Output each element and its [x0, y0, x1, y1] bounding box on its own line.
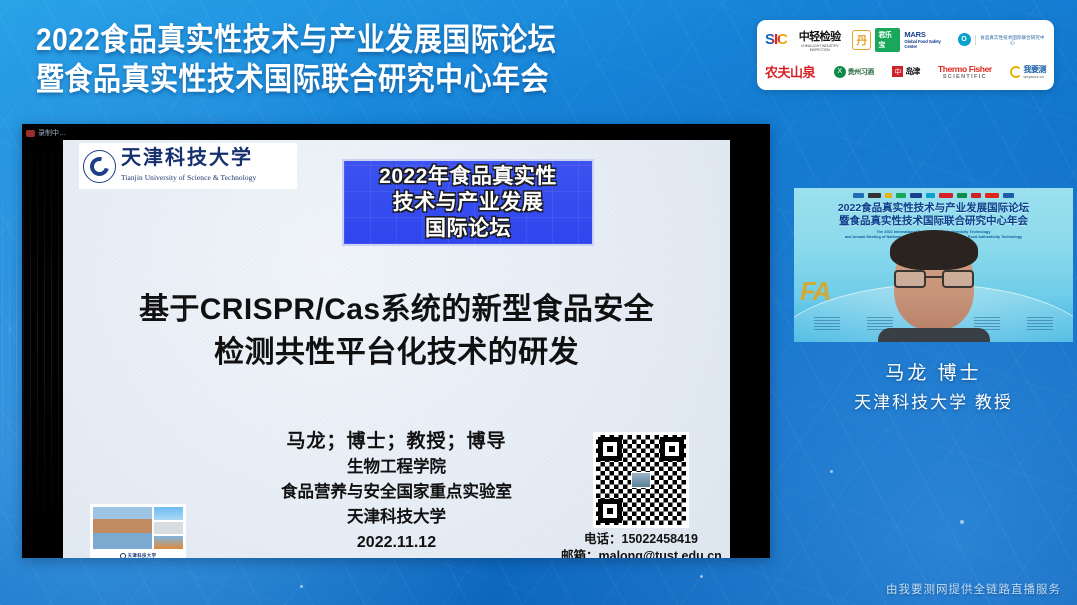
- campus-photo-thumb-1: [154, 507, 183, 520]
- glasses-right-lens-icon: [942, 270, 974, 288]
- sponsor-logo-cnlight-inspection: 中轻检验 CHINA LIGHT INDUSTRY INSPECTION: [791, 25, 848, 54]
- video-backdrop-title-line2: 暨食品真实性技术国际联合研究中心年会: [794, 215, 1073, 228]
- slide-banner-line2: 技术与产业发展: [393, 190, 544, 215]
- woyaoce-text: 我要测: [1023, 65, 1046, 74]
- slide-heading-line1: 基于CRISPR/Cas系统的新型食品安全: [63, 288, 730, 331]
- cnlight-logo-text: 中轻检验: [791, 28, 848, 44]
- qr-finder-top-left: [598, 437, 622, 461]
- bg-dot: [960, 520, 964, 524]
- thermo-fisher-text: Thermo Fisher: [938, 64, 992, 74]
- sponsor-logo-nongfu-spring: 农夫山泉: [765, 57, 815, 86]
- recording-label: 录制中…: [38, 128, 66, 138]
- qr-code-icon: [593, 432, 689, 528]
- campus-caption-text: 天津科技大学: [128, 553, 157, 559]
- campus-emblem-icon: [120, 553, 126, 559]
- university-emblem-icon: [83, 150, 116, 183]
- qr-contact-block: 电话：15022458419 邮箱：malong@tust.edu.cn: [561, 432, 721, 558]
- sponsor-logo-ocean-lab: O: [958, 25, 971, 54]
- jf-logo-text: 丹: [852, 30, 871, 50]
- backdrop-logo-10: [985, 193, 999, 198]
- speaker-torso-shape: [878, 328, 990, 342]
- shimadzu-text: 岛津: [905, 66, 919, 77]
- speaker-hair-shape: [890, 230, 978, 270]
- speaker-avatar: [886, 230, 982, 342]
- university-name-cn: 天津科技大学: [121, 147, 253, 169]
- shimadzu-icon: 中: [892, 66, 903, 77]
- nongfu-logo-text: 农夫山泉: [765, 62, 815, 81]
- mars-logo-text: MARS: [904, 30, 925, 39]
- campus-photo-collage: 天津科技大学: [90, 504, 186, 558]
- bg-dot: [700, 575, 703, 578]
- campus-photo-main: [93, 507, 152, 549]
- speaker-caption-name: 马龙 博士: [885, 359, 981, 389]
- ocean-lab-icon: O: [958, 33, 971, 46]
- qr-finder-bottom-left: [598, 499, 622, 523]
- mars-logo-sub: Global Food Safety Center: [904, 39, 953, 49]
- sponsor-logo-thermo-fisher: Thermo Fisher SCIENTIFIC: [938, 57, 992, 86]
- backdrop-logo-2: [868, 193, 881, 198]
- junlebao-logo-text: 君乐宝: [875, 28, 900, 52]
- backdrop-logo-9: [971, 193, 981, 198]
- bg-dot: [830, 470, 833, 473]
- forum-title-line2: 暨食品真实性技术国际联合研究中心年会: [36, 59, 736, 98]
- guizhou-xijiu-icon: X: [834, 66, 846, 78]
- backdrop-logo-11: [1003, 193, 1014, 198]
- backdrop-footer-block: [1027, 316, 1053, 330]
- sponsor-logo-jf: 丹: [852, 25, 871, 54]
- qr-center-image: [631, 472, 651, 488]
- glasses-left-lens-icon: [894, 270, 926, 288]
- video-backdrop-title-line1: 2022食品真实性技术与产业发展国际论坛: [794, 202, 1073, 215]
- backdrop-logo-3: [885, 193, 892, 198]
- sponsor-logo-woyaoce: 我要测 woyaoce.cn: [1010, 57, 1046, 86]
- campus-photo-thumb-3: [154, 536, 183, 549]
- contact-phone: 电话：15022458419: [561, 531, 721, 548]
- footer-note: 由我要测网提供全链路直播服务: [886, 581, 1061, 597]
- woyaoce-icon: [1010, 66, 1022, 78]
- record-icon: [26, 130, 35, 137]
- backdrop-logo-7: [939, 193, 953, 198]
- sponsor-logo-guizhou-xijiu: X 贵州习酒: [834, 57, 874, 86]
- video-backdrop-logo-strip: [794, 191, 1073, 199]
- campus-photo-caption: 天津科技大学: [93, 551, 183, 558]
- contact-info: 电话：15022458419 邮箱：malong@tust.edu.cn: [561, 531, 721, 558]
- sponsor-logo-sic: SIC: [765, 25, 787, 54]
- campus-photo-thumb-2: [154, 522, 183, 535]
- backdrop-logo-1: [853, 193, 864, 198]
- speaker-caption: 马龙 博士 天津科技大学 教授: [790, 342, 1077, 434]
- sponsor-logo-mars: MARS Global Food Safety Center: [904, 25, 953, 54]
- forum-title: 2022食品真实性技术与产业发展国际论坛 暨食品真实性技术国际联合研究中心年会: [36, 20, 736, 98]
- page-header: 2022食品真实性技术与产业发展国际论坛 暨食品真实性技术国际联合研究中心年会 …: [0, 0, 1077, 108]
- presentation-stage[interactable]: 录制中… 天津科技大学 Tianjin University of Scienc…: [22, 124, 770, 558]
- speaker-video-feed[interactable]: 2022食品真实性技术与产业发展国际论坛 暨食品真实性技术国际联合研究中心年会 …: [794, 188, 1073, 342]
- qr-finder-top-right: [660, 437, 684, 461]
- backdrop-footer-block: [814, 316, 840, 330]
- campus-photo-column: [154, 507, 183, 549]
- cnlight-logo-sub: CHINA LIGHT INDUSTRY INSPECTION: [791, 44, 848, 52]
- backdrop-logo-5: [910, 193, 922, 198]
- university-name-en: Tianjin University of Science & Technolo…: [121, 173, 256, 182]
- slide-heading: 基于CRISPR/Cas系统的新型食品安全 检测共性平台化技术的研发: [63, 288, 730, 374]
- slide-content: 天津科技大学 Tianjin University of Science & T…: [63, 140, 730, 558]
- slide-banner: 2022年食品真实性 技术与产业发展 国际论坛: [342, 159, 594, 246]
- university-logo: 天津科技大学 Tianjin University of Science & T…: [79, 143, 297, 189]
- glasses-bridge-icon: [925, 276, 943, 278]
- live-stream-page: 2022食品真实性技术与产业发展国际论坛 暨食品真实性技术国际联合研究中心年会 …: [0, 0, 1077, 605]
- sponsor-logo-card: SIC 中轻检验 CHINA LIGHT INDUSTRY INSPECTION…: [757, 20, 1054, 90]
- woyaoce-sub: woyaoce.cn: [1023, 75, 1046, 79]
- sponsor-logo-junlebao: 君乐宝: [875, 25, 900, 54]
- sic-logo-text: SIC: [765, 31, 787, 48]
- partner-gray-text: 食品真实性技术国际联合研究中心: [975, 35, 1046, 45]
- slide-banner-line1: 2022年食品真实性: [379, 164, 557, 189]
- sponsor-row-2: 农夫山泉 X 贵州习酒 中 岛津 Thermo Fisher SCIENTIFI…: [765, 57, 1046, 86]
- slide-heading-line2: 检测共性平台化技术的研发: [63, 331, 730, 374]
- bg-dot: [300, 585, 303, 588]
- backdrop-logo-6: [926, 193, 935, 198]
- backdrop-logo-8: [957, 193, 967, 198]
- backdrop-logo-4: [896, 193, 906, 198]
- recording-indicator: 录制中…: [26, 127, 66, 139]
- speaker-panel[interactable]: 2022食品真实性技术与产业发展国际论坛 暨食品真实性技术国际联合研究中心年会 …: [790, 172, 1077, 434]
- sponsor-logo-shimadzu: 中 岛津: [892, 57, 919, 86]
- slide-banner-line3: 国际论坛: [425, 216, 511, 241]
- sponsor-logo-partner-gray: 食品真实性技术国际联合研究中心: [975, 25, 1046, 54]
- sponsor-row-1: SIC 中轻检验 CHINA LIGHT INDUSTRY INSPECTION…: [765, 25, 1046, 54]
- contact-email: 邮箱：malong@tust.edu.cn: [561, 548, 721, 558]
- forum-title-line1: 2022食品真实性技术与产业发展国际论坛: [36, 20, 736, 59]
- guizhou-xijiu-text: 贵州习酒: [848, 67, 874, 77]
- campus-photo-row: [93, 507, 183, 549]
- university-name-group: 天津科技大学 Tianjin University of Science & T…: [121, 148, 293, 184]
- speaker-caption-role: 天津科技大学 教授: [854, 389, 1013, 417]
- thermo-fisher-sub: SCIENTIFIC: [938, 74, 992, 80]
- video-backdrop-title: 2022食品真实性技术与产业发展国际论坛 暨食品真实性技术国际联合研究中心年会: [794, 202, 1073, 227]
